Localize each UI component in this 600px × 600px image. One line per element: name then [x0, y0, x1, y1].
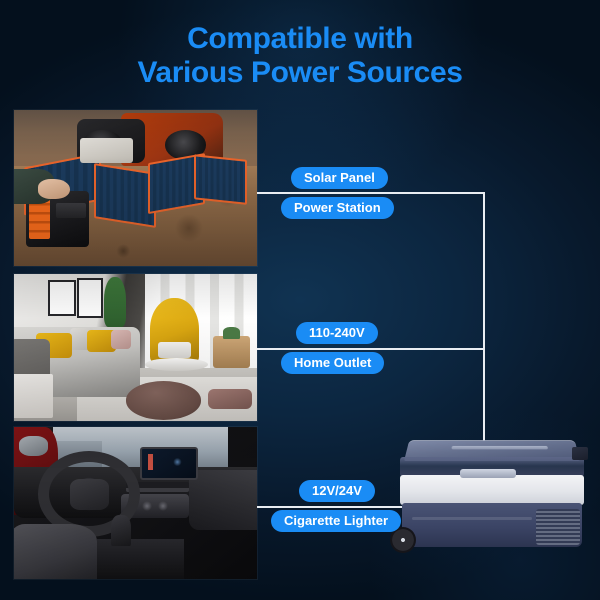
- page-title: Compatible with Various Power Sources: [0, 22, 600, 90]
- pink-pillow: [111, 330, 130, 349]
- white-cooler-box: [80, 138, 133, 163]
- control-panel: [572, 447, 588, 460]
- product-car-fridge: AOBOSI: [398, 437, 594, 559]
- photo-solar-panel-scene: [14, 110, 257, 266]
- car-interior-art: [14, 427, 257, 579]
- driver-seat: [14, 524, 97, 579]
- infographic-canvas: Compatible with Various Power Sources: [0, 0, 600, 600]
- label-voltage-dc[interactable]: 12V/24V: [299, 480, 375, 502]
- wall-frame-2: [77, 278, 103, 317]
- label-power-station[interactable]: Power Station: [281, 197, 394, 219]
- connector-line-home: [257, 348, 485, 350]
- photo-car-interior-scene: [14, 427, 257, 579]
- label-voltage-ac[interactable]: 110-240V: [296, 322, 378, 344]
- label-home-outlet[interactable]: Home Outlet: [281, 352, 384, 374]
- solar-scene-art: [14, 110, 257, 266]
- yellow-armchair: [150, 298, 199, 363]
- title-line-2: Various Power Sources: [0, 56, 600, 90]
- floor-cushion: [208, 389, 252, 410]
- center-tunnel: [97, 539, 184, 579]
- cactus-plant: [104, 277, 126, 327]
- connector-line-solar: [257, 192, 485, 194]
- person-hand: [38, 179, 70, 199]
- photo-living-room-scene: [14, 274, 257, 421]
- fridge-handle: [460, 469, 516, 478]
- connector-line-vertical: [483, 192, 485, 445]
- fridge-upper-body: AOBOSI: [400, 475, 584, 505]
- label-cigarette-lighter[interactable]: Cigarette Lighter: [271, 510, 401, 532]
- potted-plant: [223, 327, 240, 339]
- passenger-dashboard: [189, 470, 257, 531]
- compressor-vent-grille: [536, 509, 580, 545]
- infotainment-screen: [140, 447, 197, 480]
- title-line-1: Compatible with: [0, 22, 600, 56]
- side-mirror: [19, 436, 48, 456]
- label-solar-panel[interactable]: Solar Panel: [291, 167, 388, 189]
- side-table: [213, 336, 249, 368]
- connector-line-car: [257, 506, 403, 508]
- solar-panel-4: [194, 154, 247, 204]
- gear-shifter: [111, 515, 130, 545]
- coffee-table: [145, 358, 208, 371]
- wall-frame-1: [48, 280, 76, 316]
- fridge-lid-slot: [451, 446, 548, 449]
- round-pouf: [126, 381, 201, 419]
- power-cable: [483, 421, 485, 439]
- living-room-art: [14, 274, 257, 421]
- side-cabinet: [14, 374, 53, 418]
